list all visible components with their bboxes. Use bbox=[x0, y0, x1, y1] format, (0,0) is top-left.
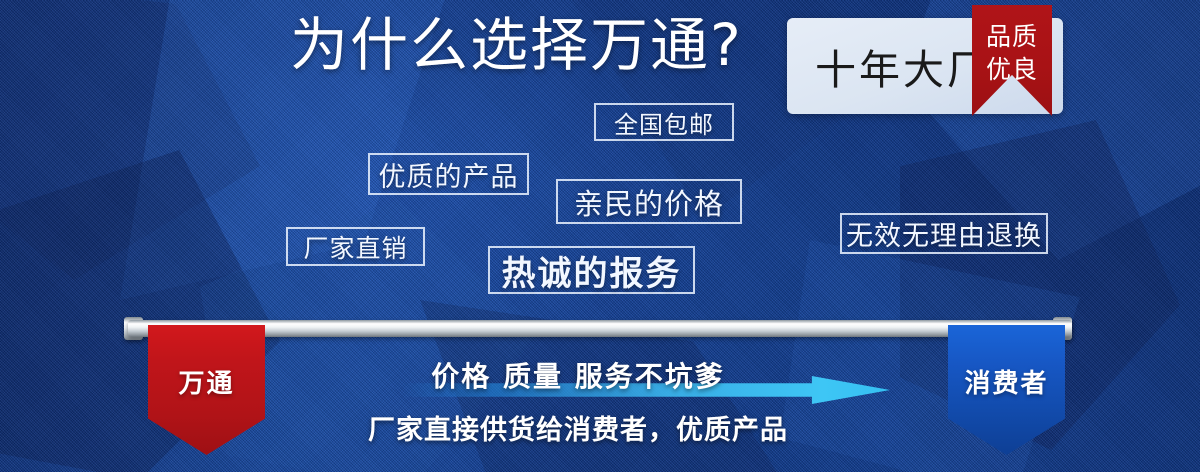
supply-chain-pipe bbox=[128, 320, 1072, 337]
promo-banner: 为什么选择万通? 十年大厂 品质 优良 全国包邮 优质的产品 亲民的价格 无效无… bbox=[0, 0, 1200, 472]
flow-caption-top: 价格 质量 服务不坑爹 bbox=[0, 355, 1178, 395]
page-title: 为什么选择万通? bbox=[290, 14, 743, 78]
feature-tag-return: 无效无理由退换 bbox=[840, 213, 1048, 254]
factory-badge-label: 十年大厂 bbox=[815, 36, 991, 96]
flow-caption-bottom: 厂家直接供货给消费者，优质产品 bbox=[0, 408, 1178, 447]
feature-tag-shipping: 全国包邮 bbox=[594, 103, 734, 141]
feature-tag-service: 热诚的报务 bbox=[488, 246, 695, 294]
quality-ribbon-line1: 品质 bbox=[972, 17, 1052, 53]
feature-tag-price: 亲民的价格 bbox=[556, 179, 742, 224]
feature-tag-product: 优质的产品 bbox=[368, 153, 529, 195]
feature-tag-direct: 厂家直销 bbox=[286, 227, 425, 266]
